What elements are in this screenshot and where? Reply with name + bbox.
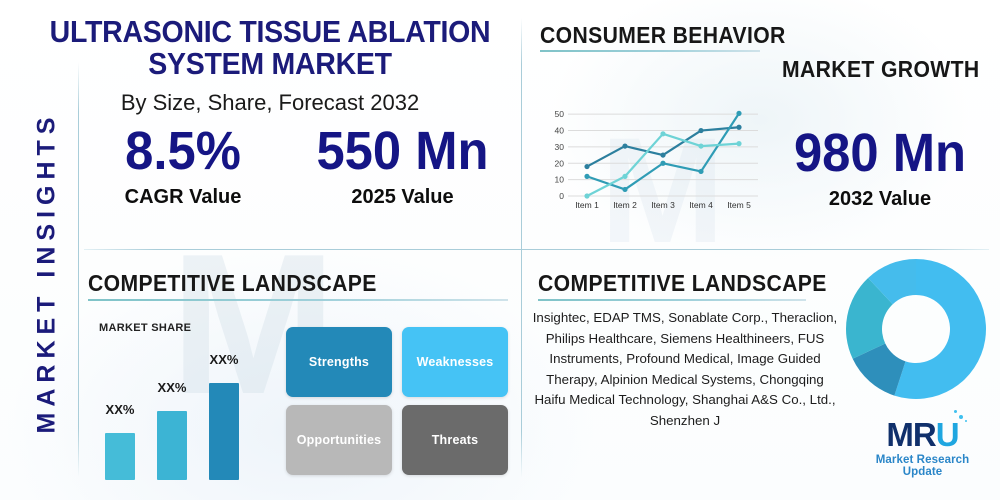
line-chart-ytick: 10 — [555, 175, 565, 185]
stat-2025: 550 Mn 2025 Value — [290, 124, 515, 209]
stat-cagr: 8.5% CAGR Value — [88, 124, 278, 209]
vertical-divider-left — [78, 62, 79, 477]
line-point — [622, 174, 627, 179]
section-underline-competitive-landscape-left — [88, 299, 508, 301]
stat-2032-caption: 2032 Value — [760, 188, 1000, 211]
logo-mark: MRU — [886, 418, 958, 451]
line-series-series-2 — [587, 113, 739, 189]
swot-label-weaknesses: Weaknesses — [417, 355, 494, 369]
logo-mark-u: U — [936, 416, 959, 453]
line-chart-ytick: 0 — [559, 191, 564, 201]
swot-grid: Strengths Weaknesses Opportunities Threa… — [286, 327, 510, 477]
line-point — [736, 111, 741, 116]
stat-2025-caption: 2025 Value — [290, 186, 515, 209]
line-point — [698, 128, 703, 133]
line-chart-xtick: Item 5 — [727, 200, 751, 210]
brand-logo: MRU Market Research Update — [855, 418, 990, 480]
logo-bubble-3 — [965, 420, 967, 422]
bar-value-label-2: XX% — [147, 380, 197, 395]
logo-bubble-2 — [954, 410, 957, 413]
section-underline-consumer-behavior — [540, 50, 760, 52]
infographic-canvas: M M MARKET INSIGHTS ULTRASONIC TISSUE AB… — [0, 0, 1000, 500]
company-list: Insightec, EDAP TMS, Sonablate Corp., Th… — [530, 308, 840, 432]
logo-bubble-1 — [959, 415, 963, 419]
swot-label-opportunities: Opportunities — [297, 433, 382, 447]
line-point — [736, 125, 741, 130]
line-point — [660, 131, 665, 136]
section-underline-competitive-landscape-right — [538, 299, 806, 301]
side-label-market-insights: MARKET INSIGHTS — [33, 63, 62, 483]
horizontal-divider — [84, 249, 989, 250]
logo-tagline: Market Research Update — [855, 454, 990, 478]
line-point — [698, 169, 703, 174]
line-chart-ytick: 40 — [555, 126, 565, 136]
section-header-competitive-landscape-right: COMPETITIVE LANDSCAPE — [538, 270, 827, 297]
line-chart-xtick: Item 1 — [575, 200, 599, 210]
line-chart-ytick: 20 — [555, 158, 565, 168]
bar-2 — [157, 411, 187, 480]
swot-label-strengths: Strengths — [309, 355, 369, 369]
bar-value-label-1: XX% — [95, 402, 145, 417]
logo-mark-mr: MR — [886, 416, 935, 453]
line-chart-consumer-behavior: 01020304050Item 1Item 2Item 3Item 4Item … — [546, 100, 761, 218]
line-point — [584, 193, 589, 198]
swot-label-threats: Threats — [432, 433, 479, 447]
line-point — [698, 143, 703, 148]
bar-chart-title: MARKET SHARE — [99, 322, 191, 334]
section-header-competitive-landscape-left: COMPETITIVE LANDSCAPE — [88, 270, 377, 297]
section-header-consumer-behavior: CONSUMER BEHAVIOR — [540, 22, 786, 49]
line-chart-ytick: 50 — [555, 109, 565, 119]
donut-chart-market-share — [845, 258, 987, 400]
line-chart-xtick: Item 2 — [613, 200, 637, 210]
line-point — [660, 161, 665, 166]
line-point — [622, 143, 627, 148]
bar-3 — [209, 383, 239, 480]
bar-chart-market-share: MARKET SHARE XX%XX%XX% — [95, 322, 260, 480]
donut-chart-svg — [845, 258, 987, 400]
line-chart-ytick: 30 — [555, 142, 565, 152]
stat-2025-value: 550 Mn — [297, 124, 509, 178]
line-point — [622, 187, 627, 192]
swot-box-threats[interactable]: Threats — [402, 405, 508, 475]
swot-box-weaknesses[interactable]: Weaknesses — [402, 327, 508, 397]
bar-chart-plot: XX%XX%XX% — [95, 344, 260, 480]
line-point — [584, 164, 589, 169]
line-chart-svg: 01020304050Item 1Item 2Item 3Item 4Item … — [546, 100, 761, 218]
stat-2032: 980 Mn 2032 Value — [760, 126, 1000, 211]
swot-box-opportunities[interactable]: Opportunities — [286, 405, 392, 475]
stat-cagr-caption: CAGR Value — [88, 186, 278, 209]
line-point — [736, 141, 741, 146]
line-point — [584, 174, 589, 179]
bar-1 — [105, 433, 135, 480]
page-subtitle: By Size, Share, Forecast 2032 — [20, 90, 520, 116]
vertical-divider-mid — [521, 18, 522, 478]
line-chart-xtick: Item 4 — [689, 200, 713, 210]
stat-cagr-value: 8.5% — [94, 124, 273, 178]
bar-value-label-3: XX% — [199, 352, 249, 367]
page-title: ULTRASONIC TISSUE ABLATION SYSTEM MARKET — [40, 16, 500, 79]
section-header-market-growth: MARKET GROWTH — [782, 56, 980, 83]
line-chart-xtick: Item 3 — [651, 200, 675, 210]
stat-2032-value: 980 Mn — [767, 126, 993, 180]
line-point — [660, 152, 665, 157]
swot-box-strengths[interactable]: Strengths — [286, 327, 392, 397]
